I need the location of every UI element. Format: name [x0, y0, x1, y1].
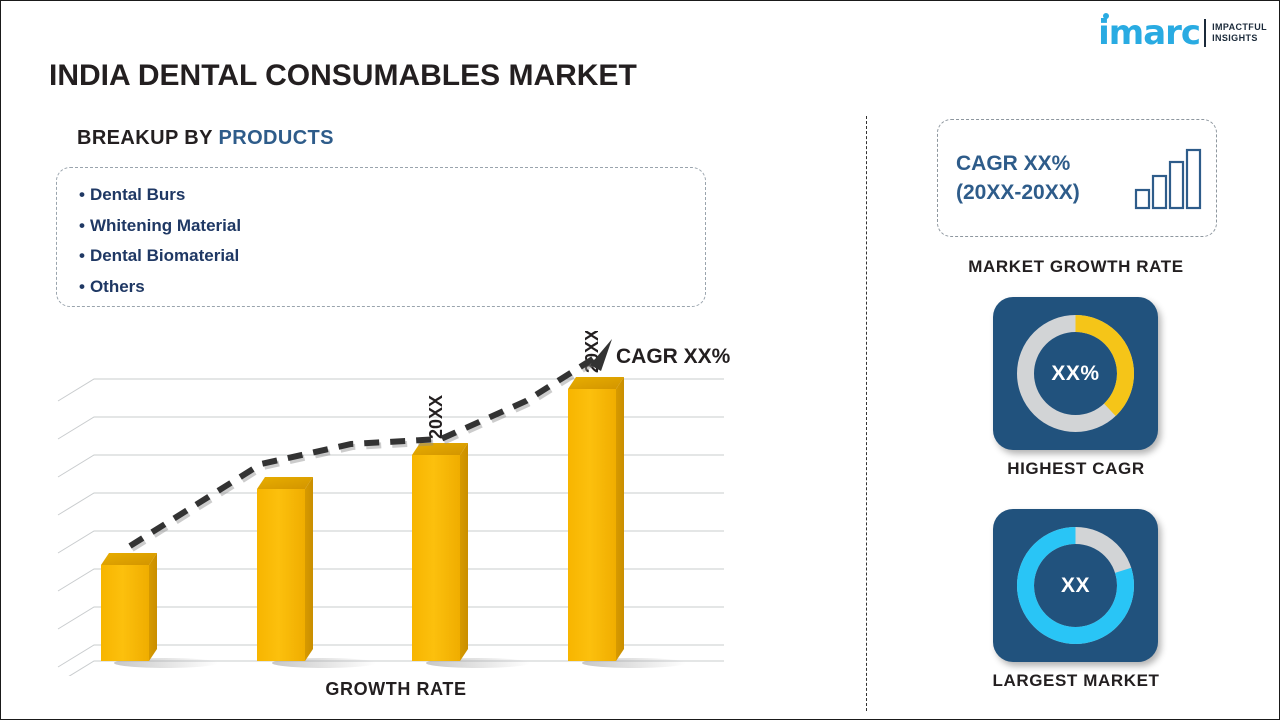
chart-gridlines [58, 379, 724, 667]
bullet-icon: • [79, 277, 85, 296]
logo-tagline: IMPACTFUL INSIGHTS [1212, 22, 1267, 44]
chart-x-axis-label: GROWTH RATE [56, 679, 736, 700]
cagr-card-line2: (20XX-20XX) [956, 178, 1080, 207]
slide-canvas: imarc IMPACTFUL INSIGHTS INDIA DENTAL CO… [0, 0, 1280, 720]
imarc-logo: imarc IMPACTFUL INSIGHTS [1098, 13, 1267, 53]
logo-tagline-line2: INSIGHTS [1212, 33, 1267, 44]
bar-value-label: 20XX [426, 395, 446, 439]
logo-wordmark: imarc [1098, 16, 1200, 50]
breakup-heading-prefix: BREAKUP BY [77, 127, 218, 149]
breakup-heading-accent: PRODUCTS [218, 127, 333, 149]
trend-line [130, 339, 612, 549]
logo-separator [1204, 19, 1206, 47]
vertical-divider [866, 116, 867, 711]
donut-center-value: XX% [993, 297, 1158, 450]
growth-bar-chart: 20XX 20XX CAGR XX% GROWTH RATE [56, 331, 756, 711]
donut-center-value: XX [993, 509, 1158, 662]
bar-chart-icon [1134, 148, 1202, 210]
largest-market-tile: XX [993, 509, 1158, 662]
cagr-card-line1: CAGR XX% [956, 149, 1080, 178]
highest-cagr-tile: XX% [993, 297, 1158, 450]
list-item-label: Others [90, 277, 145, 296]
bullet-icon: • [79, 246, 85, 265]
list-item: •Dental Biomaterial [79, 241, 705, 272]
cagr-card-text: CAGR XX% (20XX-20XX) [956, 149, 1080, 207]
caption-highest-cagr: HIGHEST CAGR [881, 459, 1271, 479]
caption-largest-market: LARGEST MARKET [881, 671, 1271, 691]
bullet-icon: • [79, 185, 85, 204]
breakup-heading: BREAKUP BY PRODUCTS [77, 127, 334, 150]
bar-2 [257, 477, 313, 661]
list-item: •Others [79, 272, 705, 303]
chart-svg: 20XX 20XX [56, 331, 756, 676]
chart-cagr-callout: CAGR XX% [616, 345, 730, 369]
caption-market-growth-rate: MARKET GROWTH RATE [881, 257, 1271, 277]
bar-3: 20XX [412, 395, 468, 661]
bar-1 [101, 553, 157, 661]
list-item-label: Dental Biomaterial [90, 246, 239, 265]
list-item: •Dental Burs [79, 180, 705, 211]
bar-4: 20XX [568, 331, 624, 661]
logo-word-text: imarc [1098, 13, 1200, 53]
page-title: INDIA DENTAL CONSUMABLES MARKET [49, 59, 637, 93]
products-list-box: •Dental Burs •Whitening Material •Dental… [56, 167, 706, 307]
list-item: •Whitening Material [79, 211, 705, 242]
bullet-icon: • [79, 216, 85, 235]
list-item-label: Dental Burs [90, 185, 185, 204]
logo-tagline-line1: IMPACTFUL [1212, 22, 1267, 33]
list-item-label: Whitening Material [90, 216, 241, 235]
market-growth-rate-card: CAGR XX% (20XX-20XX) [937, 119, 1217, 237]
